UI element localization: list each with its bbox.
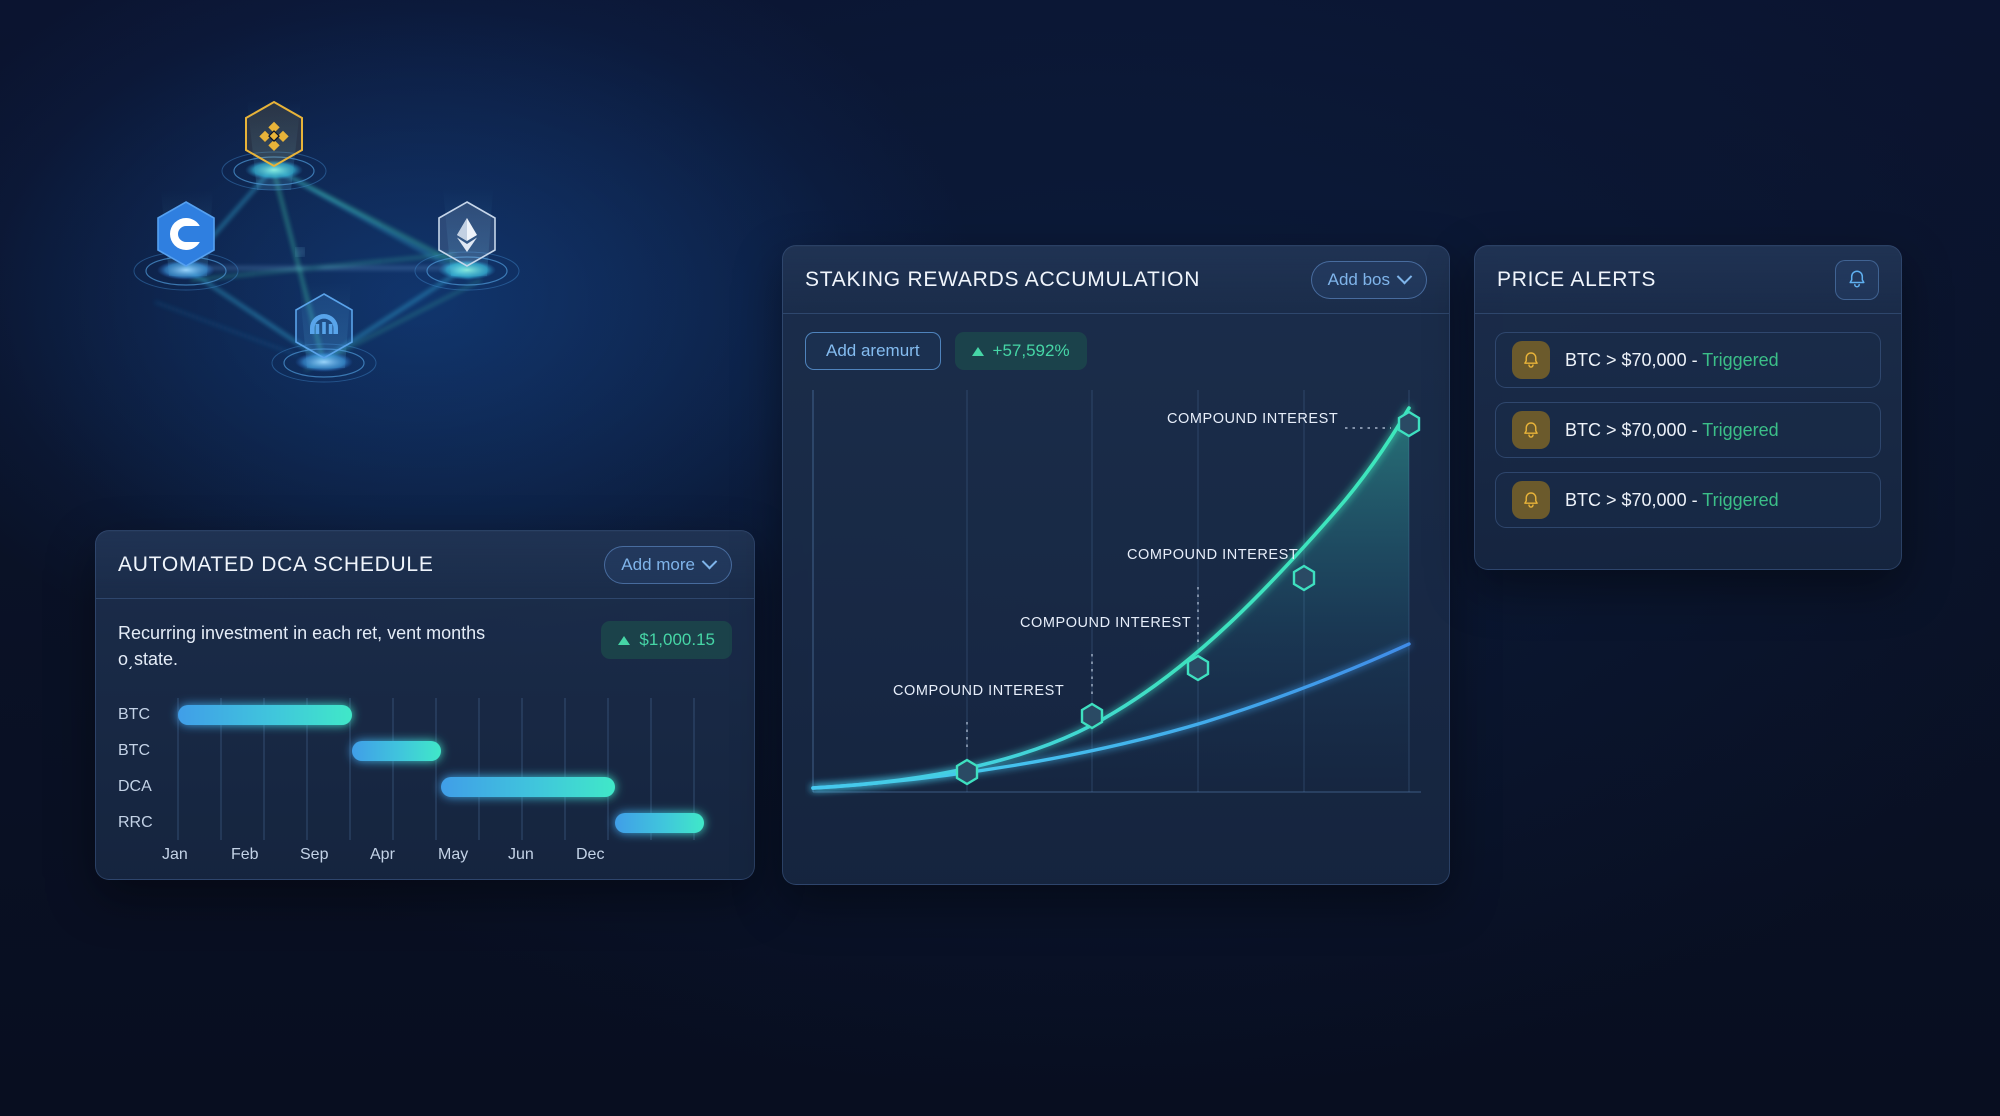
staking-panel-header: STAKING REWARDS ACCUMULATION Add bos	[783, 246, 1449, 314]
dca-amount-badge: $1,000.15	[601, 621, 732, 659]
alerts-bell-button[interactable]	[1835, 260, 1879, 300]
annotation-compound-interest-4: COMPOUND INTEREST	[1167, 410, 1307, 428]
staking-change-value: +57,592%	[993, 341, 1070, 361]
annotation-compound-interest-3: COMPOUND INTEREST	[1127, 546, 1267, 564]
staking-add-bos-button[interactable]: Add bos	[1311, 261, 1427, 299]
dca-description: Recurring investment in each ret, vent m…	[118, 621, 498, 672]
trend-up-icon	[972, 347, 984, 356]
staking-controls: Add aremurt +57,592%	[805, 332, 1427, 370]
gantt-row-label-2: DCA	[118, 778, 152, 796]
dca-add-more-label: Add more	[621, 555, 695, 575]
alert-bell-icon-tile	[1512, 481, 1550, 519]
chevron-down-icon	[1397, 269, 1413, 285]
staking-add-bos-label: Add bos	[1328, 270, 1390, 290]
staking-rewards-panel: STAKING REWARDS ACCUMULATION Add bos Add…	[782, 245, 1450, 885]
alert-text: BTC > $70,000 - Triggered	[1565, 490, 1779, 511]
alerts-panel-header: PRICE ALERTS	[1475, 246, 1901, 314]
bell-icon	[1522, 421, 1540, 440]
annotation-text: COMPOUND INTEREST	[1020, 615, 1191, 631]
crypto-network-graphic	[95, 40, 565, 420]
alert-row[interactable]: BTC > $70,000 - Triggered	[1495, 332, 1881, 388]
gantt-row-label-0: BTC	[118, 706, 150, 724]
bell-icon	[1522, 491, 1540, 510]
bell-icon	[1847, 269, 1867, 290]
alert-row[interactable]: BTC > $70,000 - Triggered	[1495, 402, 1881, 458]
alert-separator: -	[1687, 350, 1703, 370]
alert-text: BTC > $70,000 - Triggered	[1565, 350, 1779, 371]
trend-up-icon	[618, 636, 630, 645]
gantt-tick-sep: Sep	[300, 846, 328, 864]
annotation-compound-interest-2: COMPOUND INTEREST	[1020, 614, 1160, 632]
teal-area-fill	[813, 408, 1409, 792]
bell-icon	[1522, 351, 1540, 370]
alert-bell-icon-tile	[1512, 341, 1550, 379]
gantt-tick-apr: Apr	[370, 846, 395, 864]
gantt-tick-may: May	[438, 846, 468, 864]
dca-gantt-chart: BTC BTC DCA RRC Jan Feb Sep Apr May Jun …	[118, 694, 732, 869]
annotation-text: COMPOUND INTEREST	[1127, 547, 1298, 563]
alert-condition: BTC > $70,000	[1565, 420, 1687, 440]
alerts-list: BTC > $70,000 - Triggered BTC > $70,000 …	[1475, 314, 1901, 546]
staking-line-chart: COMPOUND INTEREST COMPOUND INTEREST COMP…	[805, 382, 1427, 862]
staking-panel-title: STAKING REWARDS ACCUMULATION	[805, 268, 1200, 292]
gantt-row-label-3: RRC	[118, 814, 153, 832]
gantt-tick-jun: Jun	[508, 846, 534, 864]
chevron-down-icon	[702, 554, 718, 570]
dca-add-more-button[interactable]: Add more	[604, 546, 732, 584]
price-alerts-panel: PRICE ALERTS BTC > $70,000 - Triggered	[1474, 245, 1902, 570]
dca-panel-body: Recurring investment in each ret, vent m…	[96, 599, 754, 869]
alert-status: Triggered	[1702, 490, 1778, 510]
annotation-compound-interest-1: COMPOUND INTEREST	[893, 682, 1033, 700]
alert-row[interactable]: BTC > $70,000 - Triggered	[1495, 472, 1881, 528]
alert-bell-icon-tile	[1512, 411, 1550, 449]
alert-condition: BTC > $70,000	[1565, 350, 1687, 370]
gantt-row-label-1: BTC	[118, 742, 150, 760]
staking-change-badge: +57,592%	[955, 332, 1087, 370]
gantt-tick-jan: Jan	[162, 846, 188, 864]
automated-dca-schedule-panel: AUTOMATED DCA SCHEDULE Add more Recurrin…	[95, 530, 755, 880]
alert-separator: -	[1687, 490, 1703, 510]
gantt-tick-feb: Feb	[231, 846, 259, 864]
dca-amount-value: $1,000.15	[639, 630, 715, 650]
alert-separator: -	[1687, 420, 1703, 440]
alert-condition: BTC > $70,000	[1565, 490, 1687, 510]
gantt-bars	[178, 705, 704, 833]
dca-panel-header: AUTOMATED DCA SCHEDULE Add more	[96, 531, 754, 599]
annotation-text: COMPOUND INTEREST	[893, 683, 1064, 699]
alerts-panel-title: PRICE ALERTS	[1497, 268, 1656, 292]
annotation-text: COMPOUND INTEREST	[1167, 411, 1338, 427]
dca-summary-row: Recurring investment in each ret, vent m…	[118, 621, 732, 672]
alert-status: Triggered	[1702, 350, 1778, 370]
alert-status: Triggered	[1702, 420, 1778, 440]
dca-panel-title: AUTOMATED DCA SCHEDULE	[118, 553, 434, 577]
staking-panel-body: Add aremurt +57,592%	[783, 314, 1449, 862]
staking-add-aremurt-button[interactable]: Add aremurt	[805, 332, 941, 370]
gantt-tick-dec: Dec	[576, 846, 604, 864]
alert-text: BTC > $70,000 - Triggered	[1565, 420, 1779, 441]
